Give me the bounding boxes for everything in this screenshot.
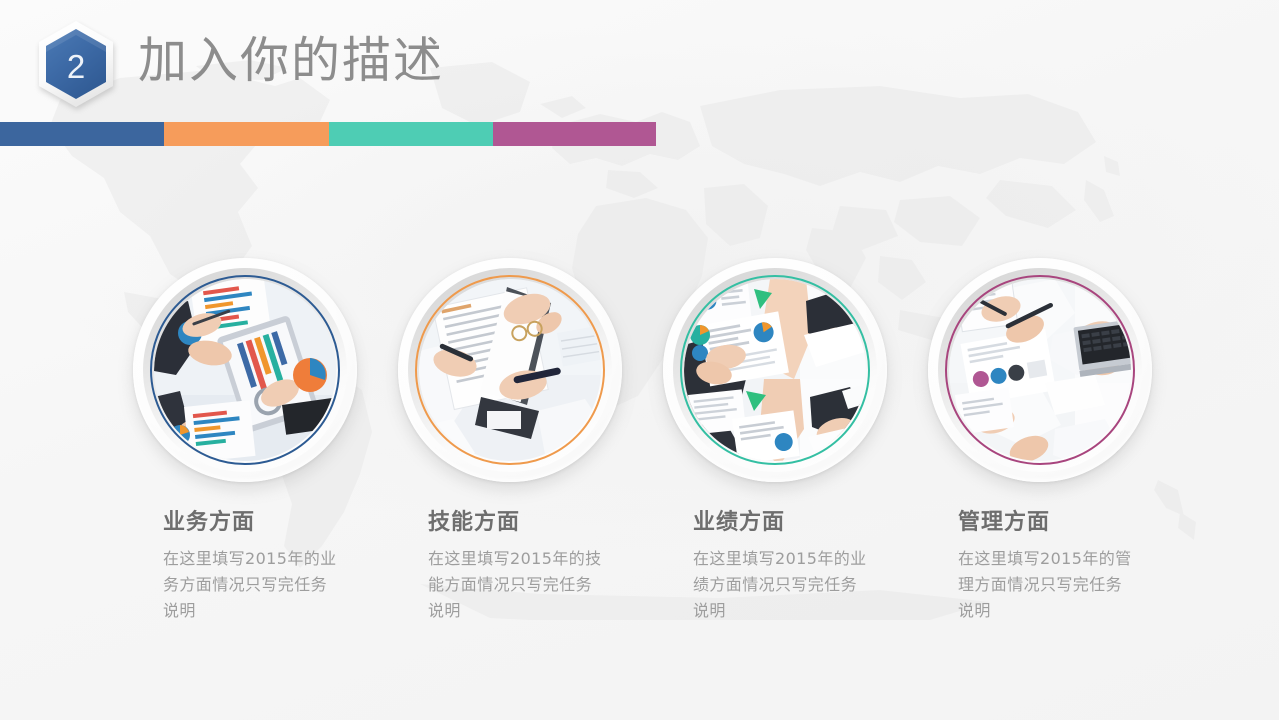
circle-frame (133, 258, 357, 482)
card-body: 在这里填写2015年的业绩方面情况只写完任务说明 (693, 546, 868, 624)
circle-photo-mask (152, 277, 338, 463)
accent-segment-blue (0, 122, 164, 146)
page-title: 加入你的描述 (138, 34, 444, 88)
card-title: 技能方面 (428, 510, 648, 536)
slide-header: 2 加入你的描述 (0, 0, 1279, 120)
circle-frame (928, 258, 1152, 482)
card-performance[interactable]: 业绩方面 在这里填写2015年的业绩方面情况只写完任务说明 (645, 258, 910, 678)
card-business[interactable]: 业务方面 在这里填写2015年的业务方面情况只写完任务说明 (115, 258, 380, 678)
photo-signing-documents (419, 279, 603, 463)
circle-frame (398, 258, 622, 482)
card-management[interactable]: 管理方面 在这里填写2015年的管理方面情况只写完任务说明 (910, 258, 1175, 678)
hexagon-badge-icon: 2 (32, 18, 120, 116)
photo-business-charts (154, 279, 338, 463)
card-title: 管理方面 (958, 510, 1178, 536)
badge-number: 2 (32, 18, 120, 116)
accent-color-bar (0, 122, 656, 146)
accent-segment-teal (329, 122, 493, 146)
photo-team-notes-laptop (949, 279, 1133, 463)
photo-meeting-reports (684, 279, 868, 463)
card-title: 业务方面 (163, 510, 383, 536)
card-row: 业务方面 在这里填写2015年的业务方面情况只写完任务说明 (0, 258, 1279, 678)
card-caption: 技能方面 在这里填写2015年的技能方面情况只写完任务说明 (428, 510, 648, 624)
card-caption: 业绩方面 在这里填写2015年的业绩方面情况只写完任务说明 (693, 510, 913, 624)
circle-photo-mask (947, 277, 1133, 463)
accent-segment-purple (493, 122, 656, 146)
card-body: 在这里填写2015年的业务方面情况只写完任务说明 (163, 546, 338, 624)
circle-frame (663, 258, 887, 482)
circle-photo-mask (417, 277, 603, 463)
card-body: 在这里填写2015年的技能方面情况只写完任务说明 (428, 546, 603, 624)
card-caption: 业务方面 在这里填写2015年的业务方面情况只写完任务说明 (163, 510, 383, 624)
accent-segment-orange (164, 122, 329, 146)
circle-photo-mask (682, 277, 868, 463)
card-caption: 管理方面 在这里填写2015年的管理方面情况只写完任务说明 (958, 510, 1178, 624)
card-skills[interactable]: 技能方面 在这里填写2015年的技能方面情况只写完任务说明 (380, 258, 645, 678)
slide-canvas: 2 加入你的描述 (0, 0, 1279, 720)
card-title: 业绩方面 (693, 510, 913, 536)
card-body: 在这里填写2015年的管理方面情况只写完任务说明 (958, 546, 1133, 624)
